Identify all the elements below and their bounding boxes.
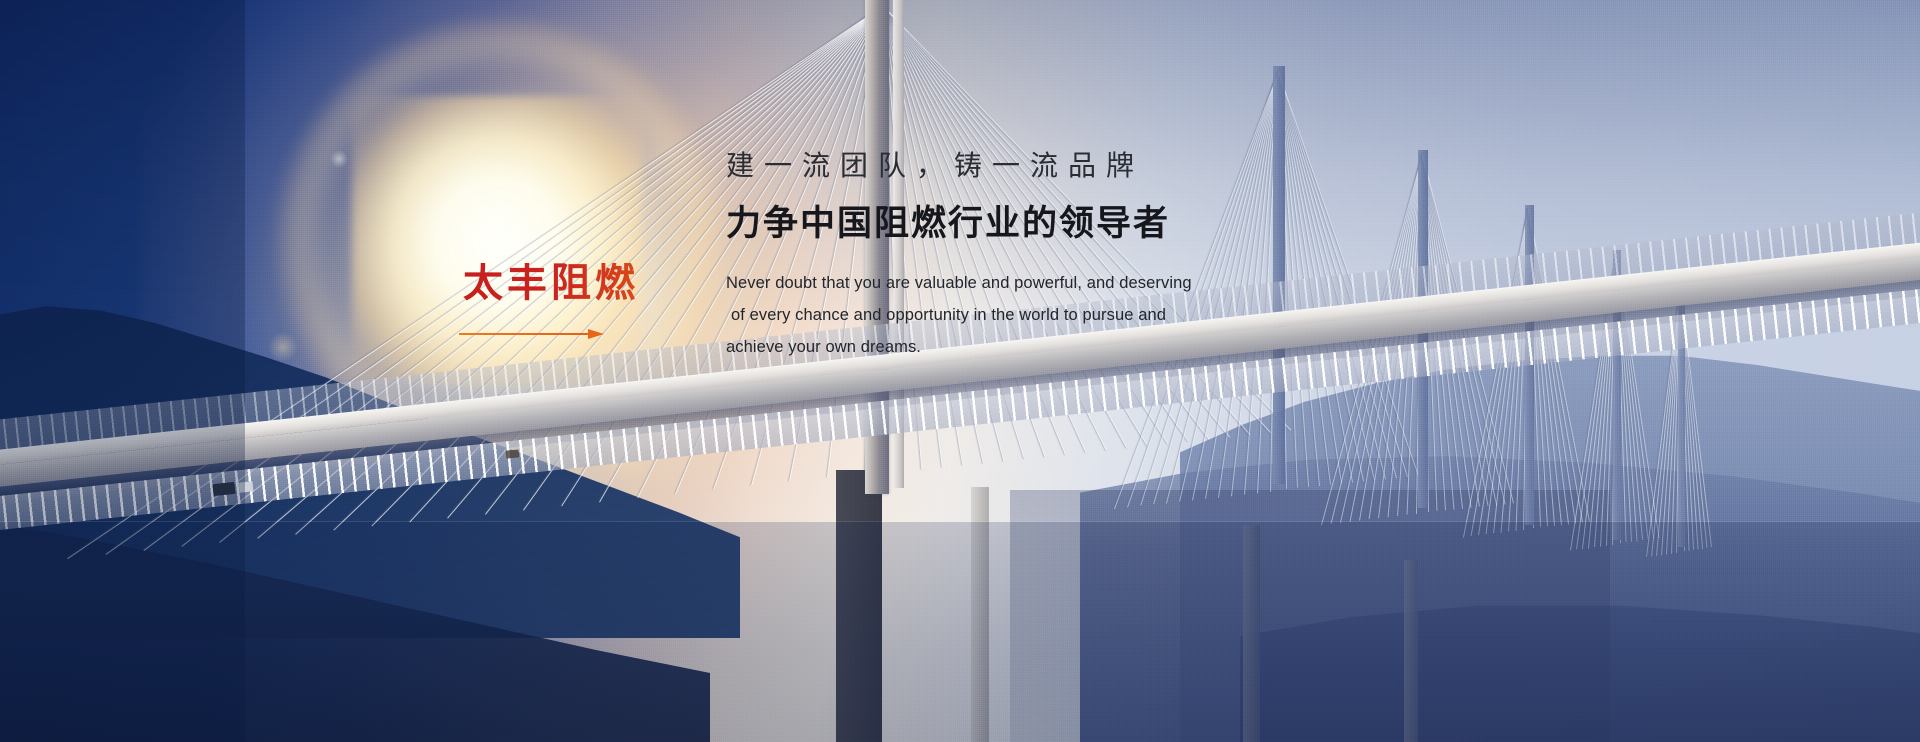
arrow-head [588, 329, 604, 339]
right-arrow-icon [459, 329, 604, 339]
headline-block: 建一流团队，铸一流品牌 力争中国阻燃行业的领导者 Never doubt tha… [726, 148, 1426, 364]
english-line: of every chance and opportunity in the w… [726, 299, 1196, 331]
hero-banner: 太丰阻燃 建一流团队，铸一流品牌 力争中国阻燃行业的领导者 Never doub… [0, 0, 1920, 742]
english-line: achieve your own dreams. [726, 331, 1196, 363]
headline-english-paragraph: Never doubt that you are valuable and po… [726, 267, 1196, 364]
page-title: 力争中国阻燃行业的领导者 [726, 203, 1426, 245]
brand-logo[interactable]: 太丰阻燃 [463, 263, 663, 339]
english-line: Never doubt that you are valuable and po… [726, 267, 1196, 299]
arrow-shaft [459, 333, 597, 335]
headline-subtitle: 建一流团队，铸一流品牌 [726, 148, 1426, 183]
brand-logo-text: 太丰阻燃 [463, 263, 663, 303]
banner-content: 太丰阻燃 建一流团队，铸一流品牌 力争中国阻燃行业的领导者 Never doub… [0, 0, 1920, 742]
